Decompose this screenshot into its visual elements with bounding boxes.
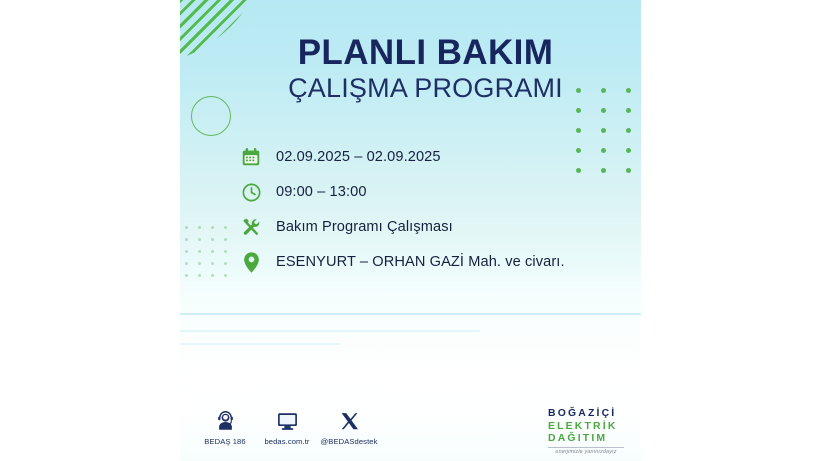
background-band [180, 313, 641, 315]
logo-tagline: enerjimizle yanınızdayız [548, 447, 624, 455]
dot [198, 250, 201, 253]
dot [185, 262, 188, 265]
dot [626, 108, 631, 113]
call-center-agent-icon [194, 408, 256, 434]
dot [601, 108, 606, 113]
dot [185, 274, 188, 277]
dot [211, 250, 214, 253]
dot [185, 226, 188, 229]
dot [198, 238, 201, 241]
dot [198, 262, 201, 265]
maintenance-details-list: 02.09.2025 – 02.09.2025 09:00 – 13:00 [238, 140, 638, 280]
footer-contacts: BEDAŞ 186 bedas.com.tr [194, 408, 380, 446]
maintenance-date-range: 02.09.2025 – 02.09.2025 [276, 149, 441, 165]
dot [224, 262, 227, 265]
dot [576, 108, 581, 113]
clock-icon [238, 179, 264, 205]
contact-social[interactable]: @BEDASdestek [318, 408, 380, 446]
background-band [180, 330, 480, 332]
dot [224, 238, 227, 241]
x-twitter-icon [318, 408, 380, 434]
logo-line-1: BOĞAZİÇİ [548, 408, 638, 421]
list-item: 02.09.2025 – 02.09.2025 [238, 140, 638, 174]
tools-icon [238, 214, 264, 240]
dot [185, 250, 188, 253]
logo-line-3: DAĞITIM [548, 433, 638, 446]
dot [211, 226, 214, 229]
planned-maintenance-poster: PLANLI BAKIM ÇALIŞMA PROGRAMI [180, 0, 641, 461]
location-pin-icon [238, 249, 264, 275]
list-item: Bakım Programı Çalışması [238, 210, 638, 244]
dot [185, 238, 188, 241]
maintenance-time-range: 09:00 – 13:00 [276, 184, 367, 200]
page-subtitle: ÇALIŞMA PROGRAMI [210, 74, 641, 104]
screenshot-root: PLANLI BAKIM ÇALIŞMA PROGRAMI [0, 0, 820, 461]
contact-website-label: bedas.com.tr [256, 437, 318, 446]
monitor-icon [256, 408, 318, 434]
dot [211, 274, 214, 277]
logo-line-2: ELEKTRİK [548, 421, 638, 434]
maintenance-work-type: Bakım Programı Çalışması [276, 219, 453, 235]
bedas-logo: BOĞAZİÇİ ELEKTRİK DAĞITIM enerjimizle ya… [548, 408, 638, 455]
contact-phone[interactable]: BEDAŞ 186 [194, 408, 256, 446]
dot [198, 274, 201, 277]
dot [211, 238, 214, 241]
dot [224, 250, 227, 253]
dot [576, 128, 581, 133]
dot-grid-left-decoration [185, 226, 237, 286]
contact-phone-label: BEDAŞ 186 [194, 437, 256, 446]
contact-social-label: @BEDASdestek [318, 437, 380, 446]
poster-title-block: PLANLI BAKIM ÇALIŞMA PROGRAMI [180, 34, 641, 103]
dot [211, 262, 214, 265]
list-item: ESENYURT – ORHAN GAZİ Mah. ve civarı. [238, 245, 638, 279]
maintenance-location: ESENYURT – ORHAN GAZİ Mah. ve civarı. [276, 254, 565, 270]
background-band [180, 343, 340, 345]
dot [626, 128, 631, 133]
dot [224, 226, 227, 229]
calendar-icon [238, 144, 264, 170]
contact-website[interactable]: bedas.com.tr [256, 408, 318, 446]
list-item: 09:00 – 13:00 [238, 175, 638, 209]
dot [198, 226, 201, 229]
page-title: PLANLI BAKIM [210, 34, 641, 72]
dot [224, 274, 227, 277]
dot [601, 128, 606, 133]
